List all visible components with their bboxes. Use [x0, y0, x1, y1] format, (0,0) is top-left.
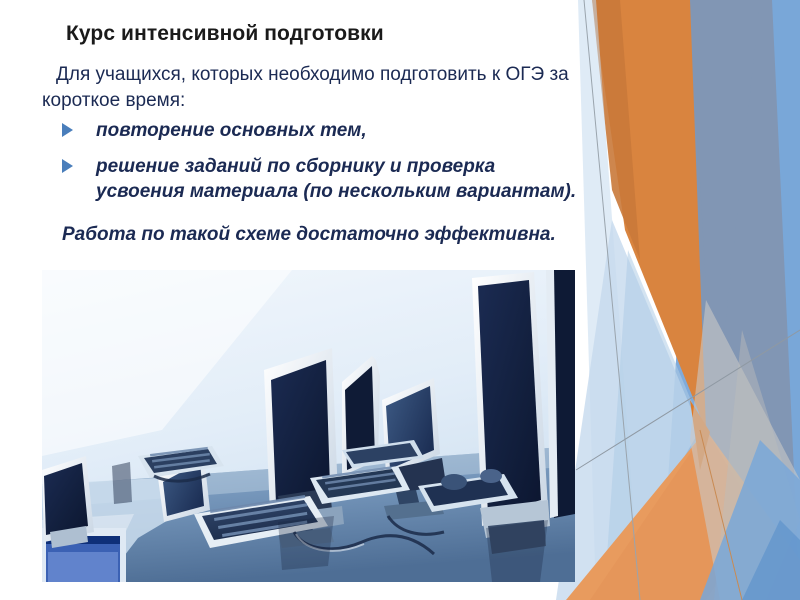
- decor-pale-triangle-2: [604, 250, 706, 600]
- photo-foreground-screen-glow: [48, 552, 118, 582]
- photo-mouse: [441, 474, 467, 490]
- closing-paragraph: Работа по такой схеме достаточно эффекти…: [62, 222, 602, 248]
- bullet-item-label: повторение основных тем,: [96, 120, 367, 141]
- decor-blue-bottom: [700, 440, 800, 600]
- decor-slate-wedge-inner: [690, 0, 760, 430]
- decor-blue-bottom-dark: [742, 520, 800, 600]
- intro-paragraph: Для учащихся, которых необходимо подгото…: [42, 62, 582, 114]
- decor-orange-top: [592, 0, 706, 430]
- bullet-list: повторение основных тем, решение заданий…: [42, 118, 582, 215]
- decor-slate-wedge: [672, 0, 800, 600]
- decor-orange-sweep: [566, 430, 800, 600]
- decor-gray-overlay: [690, 300, 800, 600]
- photo-monitor-left: [42, 456, 94, 548]
- photo-monitor-far-left: [112, 462, 132, 504]
- decor-blue-band: [660, 0, 800, 600]
- decor-orange-sweep-inner: [590, 430, 760, 600]
- decor-hairline-diagonal: [576, 330, 800, 470]
- decor-orange-notch: [690, 400, 710, 470]
- bullet-item: повторение основных тем,: [42, 118, 582, 143]
- slide-title: Курс интенсивной подготовки: [66, 22, 384, 46]
- decor-blue-right: [700, 0, 800, 600]
- bullet-item: решение заданий по сборнику и проверка у…: [42, 154, 582, 204]
- computer-lab-photo: [42, 270, 575, 582]
- decor-hairline-orange: [700, 430, 742, 600]
- decor-gray-overlay-2: [714, 330, 800, 600]
- computer-lab-photo-graphic: [42, 270, 575, 582]
- triangle-bullet-icon: [62, 123, 73, 137]
- triangle-bullet-icon: [62, 159, 73, 173]
- photo-mouse-2: [480, 469, 502, 483]
- presentation-slide: Курс интенсивной подготовки Для учащихся…: [0, 0, 800, 600]
- photo-monitor-edge-right: [546, 270, 575, 518]
- bullet-item-label: решение заданий по сборнику и проверка у…: [96, 156, 576, 202]
